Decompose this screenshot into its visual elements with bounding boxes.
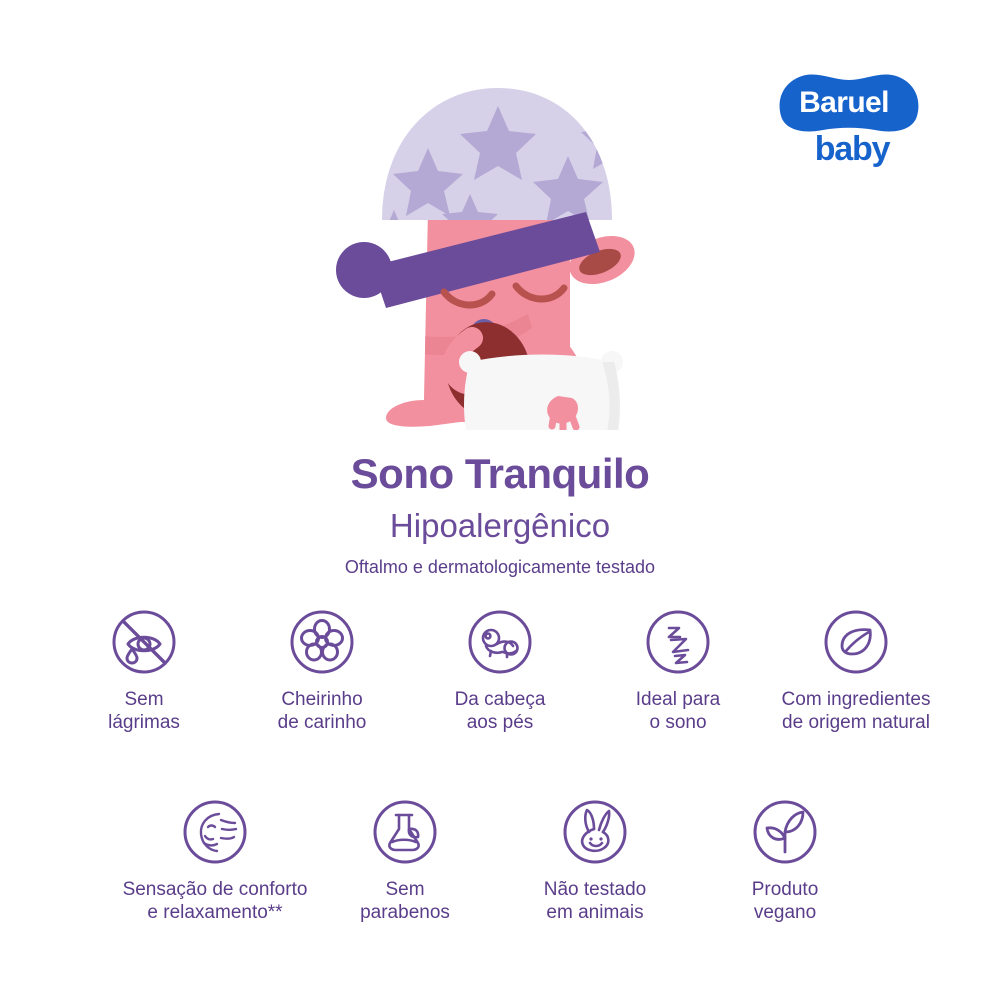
benefit-item-sem-parabenos: Sem parabenos <box>310 798 500 924</box>
flask-leaf-icon <box>371 798 439 866</box>
benefit-label: Cheirinho de carinho <box>278 688 367 734</box>
brand-name-text: Baruel <box>770 72 918 134</box>
benefit-label: Sem parabenos <box>360 878 450 924</box>
brand-logo: Baruel baby <box>770 72 930 187</box>
benefit-item-da-cabeca-aos-pes: Da cabeça aos pés <box>411 608 589 734</box>
headings-block: Sono Tranquilo Hipoalergênico Oftalmo e … <box>0 452 1000 579</box>
baby-crawling-icon <box>466 608 534 676</box>
character-hand <box>547 396 578 430</box>
benefit-item-ideal-para-o-sono: Ideal para o sono <box>589 608 767 734</box>
no-tears-eye-icon <box>110 608 178 676</box>
benefit-label: Sensação de conforto e relaxamento** <box>123 878 308 924</box>
benefit-item-nao-testado-em-animais: Não testado em animais <box>500 798 690 924</box>
rabbit-face-icon <box>561 798 629 866</box>
benefit-label: Não testado em animais <box>544 878 646 924</box>
product-tagline: Oftalmo e dermatologicamente testado <box>0 556 1000 579</box>
benefits-row-two: Sensação de conforto e relaxamento** S <box>0 798 1000 924</box>
benefit-label: Ideal para o sono <box>636 688 721 734</box>
poster-canvas: Baruel baby <box>0 0 1000 1000</box>
sleeping-baby-character-illustration <box>320 70 680 430</box>
relaxed-face-icon <box>181 798 249 866</box>
benefit-label: Com ingredientes de origem natural <box>782 688 931 734</box>
page-title: Sono Tranquilo <box>0 452 1000 497</box>
pillow <box>459 351 623 430</box>
benefit-label: Sem lágrimas <box>108 688 180 734</box>
benefit-item-produto-vegano: Produto vegano <box>690 798 880 924</box>
benefit-item-ingredientes-naturais: Com ingredientes de origem natural <box>767 608 945 734</box>
leaf-icon <box>822 608 890 676</box>
benefits-row-one: Sem lágrimas <box>0 608 1000 734</box>
benefit-label: Produto vegano <box>752 878 819 924</box>
sprout-plant-icon <box>751 798 819 866</box>
sleep-zzz-icon <box>644 608 712 676</box>
brand-sub-text: baby <box>792 130 912 169</box>
flower-icon <box>288 608 356 676</box>
benefit-label: Da cabeça aos pés <box>455 688 546 734</box>
benefit-item-sem-lagrimas: Sem lágrimas <box>55 608 233 734</box>
benefit-item-cheirinho-de-carinho: Cheirinho de carinho <box>233 608 411 734</box>
benefit-item-sensacao-de-conforto: Sensação de conforto e relaxamento** <box>120 798 310 924</box>
product-subtitle: Hipoalergênico <box>0 505 1000 546</box>
